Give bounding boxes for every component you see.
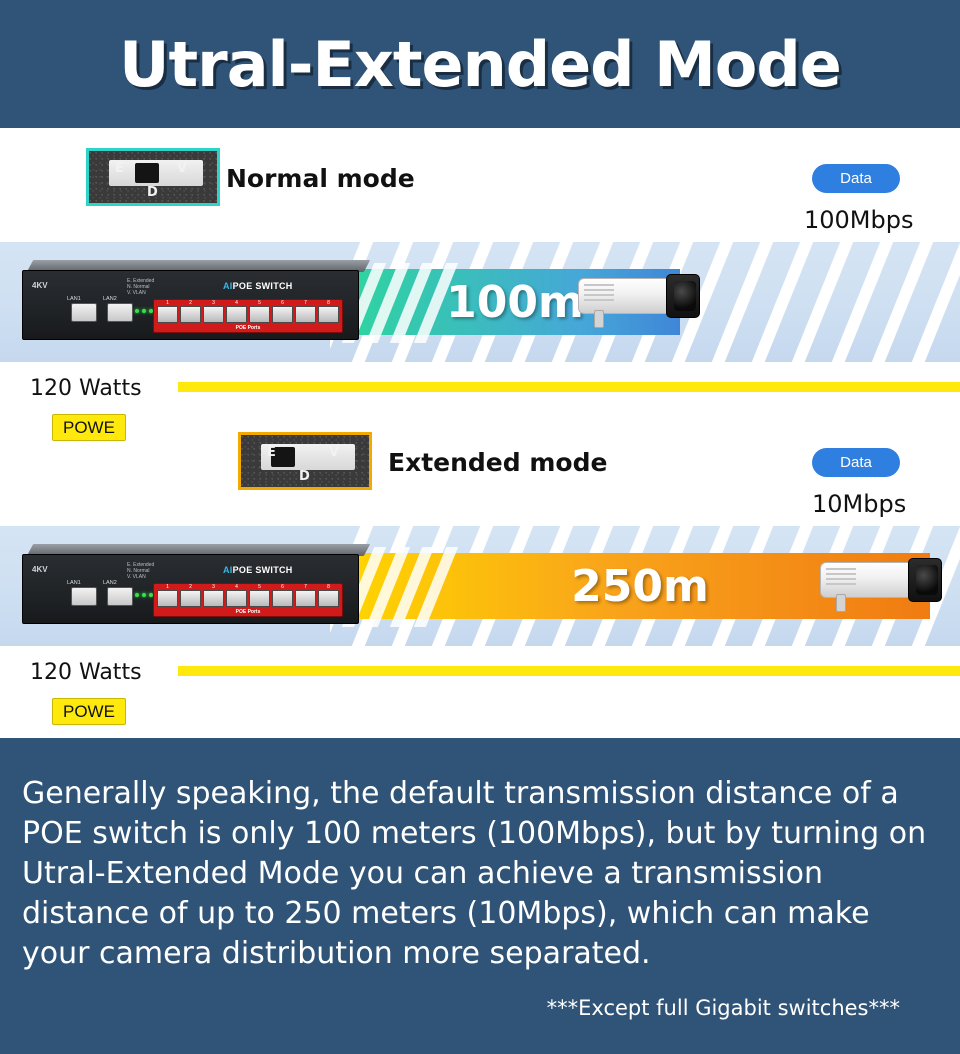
distance-label-normal: 100m	[446, 277, 584, 328]
normal-mode-label: Normal mode	[226, 164, 415, 193]
dip-letter-e-extended: E	[267, 445, 276, 460]
switch-front-face-2: 4KV E. Extended N. Normal V. VLAN AIPOE …	[22, 554, 359, 624]
page-title: Utral-Extended Mode	[119, 28, 841, 101]
dip-letter-v-normal: V	[177, 161, 187, 176]
power-badge-extended: POWE	[52, 698, 126, 725]
speed-label-normal: 100Mbps	[804, 206, 914, 234]
poe-switch-extended: 4KV E. Extended N. Normal V. VLAN AIPOE …	[22, 544, 367, 626]
extended-mode-row: E V D Extended mode Data 10Mbps	[0, 412, 960, 524]
camera-fins	[584, 284, 620, 306]
switch-mode-legend-normal: E. Extended N. Normal V. VLAN	[127, 278, 154, 296]
camera-bracket	[594, 310, 604, 328]
footer-paragraph: Generally speaking, the default transmis…	[22, 774, 938, 974]
camera-lens-glass-2	[916, 565, 938, 595]
watts-label-normal: 120 Watts	[30, 376, 142, 401]
switch-surge-label-normal: 4KV	[32, 281, 48, 290]
dip-toggle-normal[interactable]	[135, 163, 159, 183]
uplink-port-1-normal	[71, 303, 97, 322]
uplink-label-1-extended: LAN1	[67, 580, 81, 586]
dip-switch-extended: E V D	[238, 432, 372, 490]
poe-ports-normal	[157, 306, 339, 323]
page-header: Utral-Extended Mode	[0, 0, 960, 128]
power-bar-normal	[178, 382, 960, 392]
camera-lens-glass	[674, 281, 696, 311]
poe-port-block-extended: 1 2 3 4 5 6 7 8 POE Ports	[153, 583, 343, 617]
uplink-port-1-extended	[71, 587, 97, 606]
switch-surge-label-extended: 4KV	[32, 565, 48, 574]
data-badge-extended: Data	[812, 448, 900, 477]
data-badge-normal: Data	[812, 164, 900, 193]
dip-switch-normal: E V D	[86, 148, 220, 206]
uplink-label-2-normal: LAN2	[103, 296, 117, 302]
camera-bracket-2	[836, 594, 846, 612]
brand-text-2: POE SWITCH	[233, 565, 293, 575]
uplink-label-1-normal: LAN1	[67, 296, 81, 302]
extended-diagram-band: 250m 4KV E. Extended N. Normal V. VLAN A…	[0, 526, 960, 646]
watts-label-extended: 120 Watts	[30, 660, 142, 685]
ip-camera-normal	[578, 270, 702, 332]
uplink-label-2-extended: LAN2	[103, 580, 117, 586]
poe-ports-extended	[157, 590, 339, 607]
camera-fins-2	[826, 568, 862, 590]
brand-ai-text: AI	[223, 281, 233, 291]
switch-front-face: 4KV E. Extended N. Normal V. VLAN AIPOE …	[22, 270, 359, 340]
infographic-page: Utral-Extended Mode E V D Normal mode Da…	[0, 0, 960, 1054]
poe-ports-caption-normal: POE Ports	[154, 325, 342, 331]
brand-text: POE SWITCH	[233, 281, 293, 291]
uplink-port-2-extended	[107, 587, 133, 606]
dip-letter-d-normal: D	[147, 185, 158, 200]
switch-mode-legend-extended: E. Extended N. Normal V. VLAN	[127, 562, 154, 580]
footer-description: Generally speaking, the default transmis…	[0, 738, 960, 1054]
dip-letter-v-extended: V	[329, 445, 339, 460]
poe-port-block-normal: 1 2 3 4 5 6 7 8 POE Ports	[153, 299, 343, 333]
power-bar-extended	[178, 666, 960, 676]
extended-mode-label: Extended mode	[388, 448, 607, 477]
poe-ports-caption-extended: POE Ports	[154, 609, 342, 615]
dip-letter-e-normal: E	[115, 161, 124, 176]
dip-letter-d-extended: D	[299, 469, 310, 484]
poe-switch-normal: 4KV E. Extended N. Normal V. VLAN AIPOE …	[22, 260, 367, 342]
uplink-port-2-normal	[107, 303, 133, 322]
ip-camera-extended	[820, 554, 944, 616]
distance-label-extended: 250m	[571, 561, 709, 612]
normal-diagram-band: 100m 4KV E. Extended N. Normal V. VLAN A…	[0, 242, 960, 362]
footer-note: ***Except full Gigabit switches***	[547, 996, 900, 1020]
speed-label-extended: 10Mbps	[812, 490, 906, 518]
switch-brand-normal: AIPOE SWITCH	[223, 281, 293, 291]
extended-power-row: 120 Watts POWE	[0, 646, 960, 732]
brand-ai-text-2: AI	[223, 565, 233, 575]
normal-mode-row: E V D Normal mode Data 100Mbps	[0, 128, 960, 240]
switch-brand-extended: AIPOE SWITCH	[223, 565, 293, 575]
